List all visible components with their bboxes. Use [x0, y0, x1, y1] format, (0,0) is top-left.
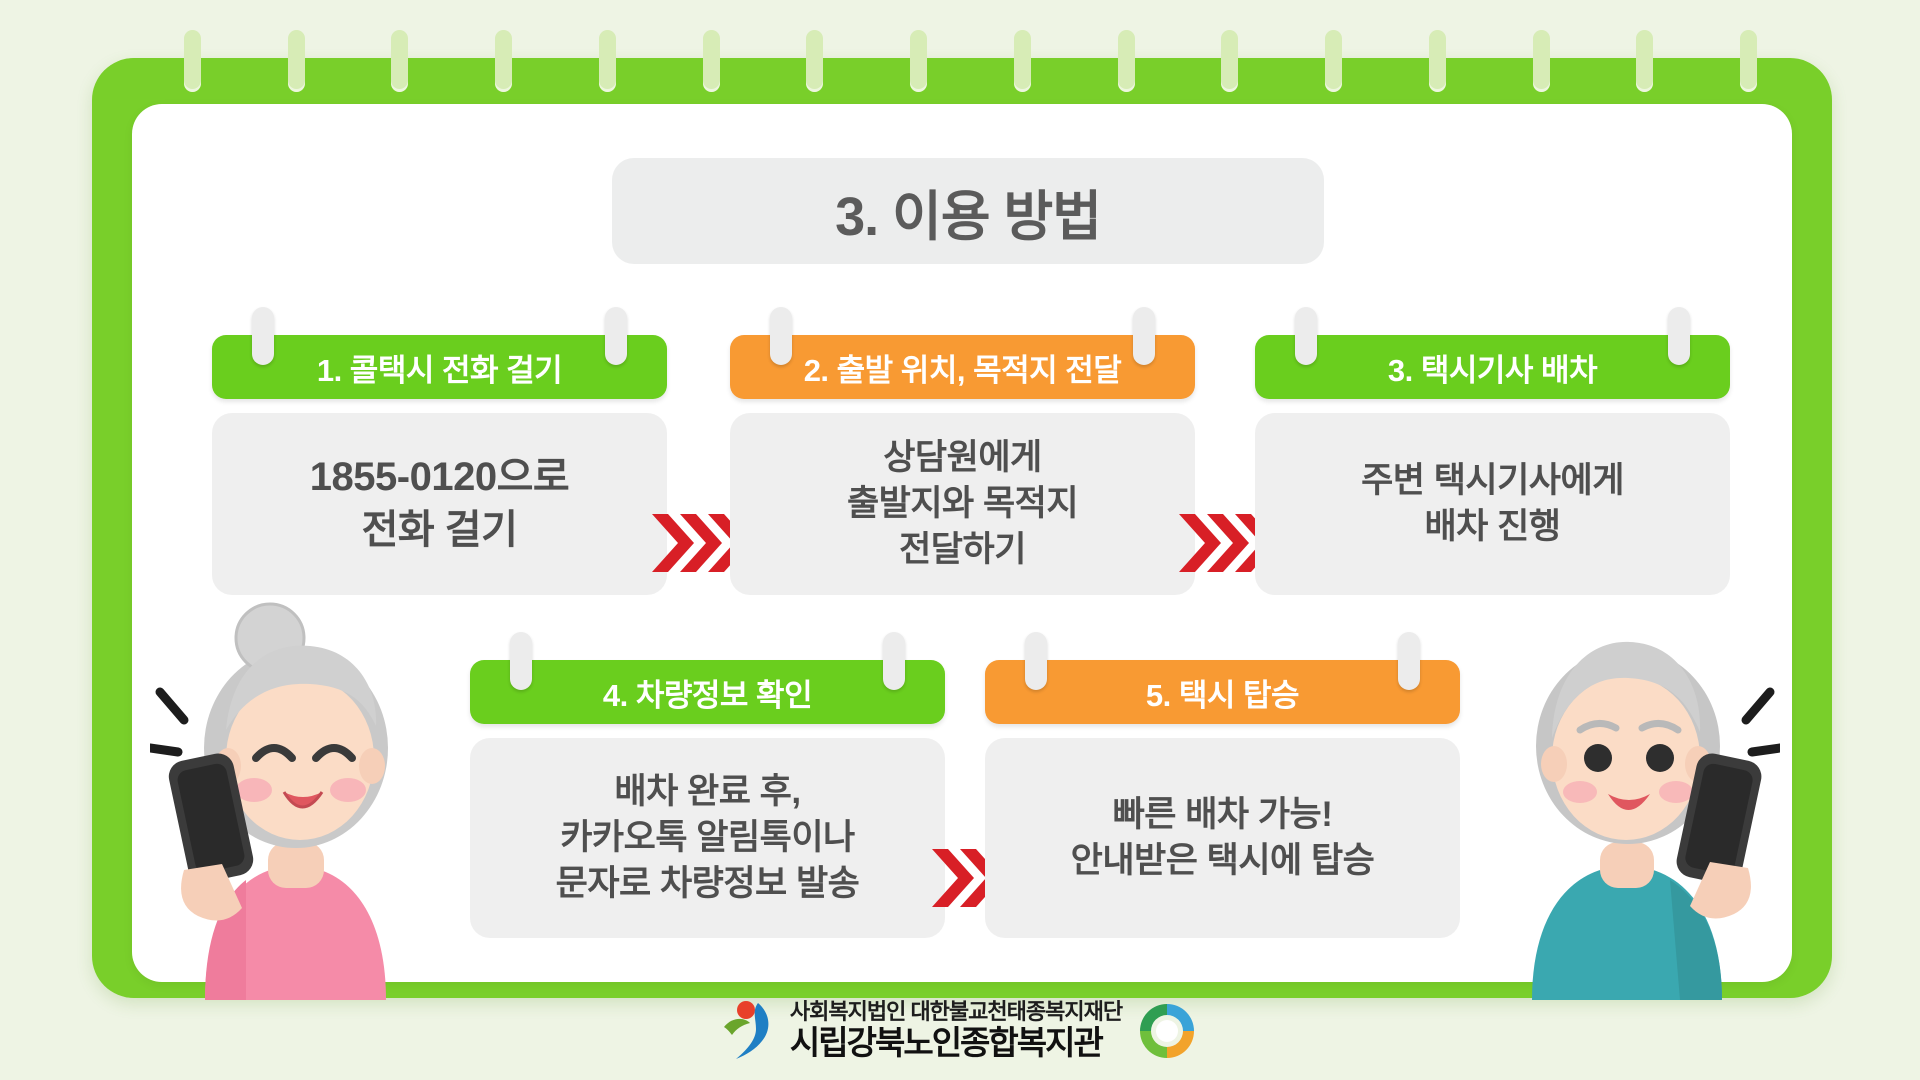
elderly-man-illustration	[1480, 580, 1780, 1000]
step-3-tab-label: 3. 택시기사 배차	[1388, 345, 1597, 390]
step-4[interactable]: 4. 차량정보 확인 배차 완료 후, 카카오톡 알림톡이나 문자로 차량정보 …	[470, 660, 945, 938]
step-5-tab[interactable]: 5. 택시 탑승	[985, 660, 1460, 724]
step-2-line-2: 출발지와 목적지	[847, 481, 1078, 527]
ribbon-logo-mark-icon	[722, 999, 780, 1063]
pin-icon	[510, 632, 532, 690]
pin-icon	[770, 307, 792, 365]
step-2-box: 상담원에게 출발지와 목적지 전달하기	[730, 413, 1195, 595]
step-2-tab-label: 2. 출발 위치, 목적지 전달	[804, 345, 1122, 390]
circle-ring-mark-icon	[1136, 1000, 1198, 1062]
footer-org-line1: 사회복지법인 대한불교천태종복지재단	[790, 1000, 1122, 1024]
step-2[interactable]: 2. 출발 위치, 목적지 전달 상담원에게 출발지와 목적지 전달하기	[730, 335, 1195, 595]
step-4-line-1: 배차 완료 후,	[614, 769, 800, 815]
step-3-tab[interactable]: 3. 택시기사 배차	[1255, 335, 1730, 399]
spiral-ring	[1740, 30, 1757, 92]
step-2-line-1: 상담원에게	[883, 435, 1042, 481]
pin-icon	[1133, 307, 1155, 365]
pin-icon	[1025, 632, 1047, 690]
step-3[interactable]: 3. 택시기사 배차 주변 택시기사에게 배차 진행	[1255, 335, 1730, 595]
step-2-tab[interactable]: 2. 출발 위치, 목적지 전달	[730, 335, 1195, 399]
spiral-ring	[1014, 30, 1031, 92]
step-4-line-2: 카카오톡 알림톡이나	[560, 815, 855, 861]
spiral-ring	[1325, 30, 1342, 92]
step-1-box: 1855-0120으로 전화 걸기	[212, 413, 667, 595]
step-1-tab[interactable]: 1. 콜택시 전화 걸기	[212, 335, 667, 399]
elderly-woman-illustration	[150, 580, 440, 1000]
pin-icon	[1295, 307, 1317, 365]
step-3-line-1: 주변 택시기사에게	[1361, 458, 1624, 504]
step-2-line-3: 전달하기	[899, 527, 1026, 573]
spiral-ring	[806, 30, 823, 92]
step-5[interactable]: 5. 택시 탑승 빠른 배차 가능! 안내받은 택시에 탑승	[985, 660, 1460, 938]
spiral-ring	[703, 30, 720, 92]
spiral-ring	[1221, 30, 1238, 92]
pin-icon	[605, 307, 627, 365]
step-3-box: 주변 택시기사에게 배차 진행	[1255, 413, 1730, 595]
step-4-tab-label: 4. 차량정보 확인	[603, 670, 812, 715]
pin-icon	[883, 632, 905, 690]
footer-org-text: 사회복지법인 대한불교천태종복지재단 시립강북노인종합복지관	[790, 1000, 1122, 1061]
pin-icon	[1398, 632, 1420, 690]
spiral-rings	[140, 30, 1800, 102]
spiral-ring	[1636, 30, 1653, 92]
pin-icon	[252, 307, 274, 365]
spiral-ring	[599, 30, 616, 92]
step-5-line-2: 안내받은 택시에 탑승	[1071, 838, 1375, 884]
spiral-ring	[910, 30, 927, 92]
step-1-line-1: 1855-0120으로	[310, 451, 569, 504]
step-5-line-1: 빠른 배차 가능!	[1113, 792, 1333, 838]
footer-org-line2: 시립강북노인종합복지관	[790, 1025, 1122, 1062]
page-title: 3. 이용 방법	[612, 158, 1324, 264]
spiral-ring	[1118, 30, 1135, 92]
step-4-line-3: 문자로 차량정보 발송	[556, 861, 860, 907]
infographic-canvas: 3. 이용 방법 1. 콜택시 전화 걸기 1855-0120으로 전화 걸기 …	[0, 0, 1920, 1080]
step-5-box: 빠른 배차 가능! 안내받은 택시에 탑승	[985, 738, 1460, 938]
spiral-ring	[391, 30, 408, 92]
spiral-ring	[184, 30, 201, 92]
pin-icon	[1668, 307, 1690, 365]
spiral-ring	[1533, 30, 1550, 92]
spiral-ring	[1429, 30, 1446, 92]
page-title-text: 3. 이용 방법	[835, 172, 1101, 251]
step-3-line-2: 배차 진행	[1424, 504, 1560, 550]
spiral-ring	[288, 30, 305, 92]
step-5-tab-label: 5. 택시 탑승	[1146, 670, 1299, 715]
step-1-tab-label: 1. 콜택시 전화 걸기	[317, 345, 562, 390]
step-4-tab[interactable]: 4. 차량정보 확인	[470, 660, 945, 724]
spiral-ring	[495, 30, 512, 92]
step-1-line-2: 전화 걸기	[362, 504, 518, 557]
footer-logo: 사회복지법인 대한불교천태종복지재단 시립강북노인종합복지관	[0, 988, 1920, 1074]
step-4-box: 배차 완료 후, 카카오톡 알림톡이나 문자로 차량정보 발송	[470, 738, 945, 938]
step-1[interactable]: 1. 콜택시 전화 걸기 1855-0120으로 전화 걸기	[212, 335, 667, 595]
